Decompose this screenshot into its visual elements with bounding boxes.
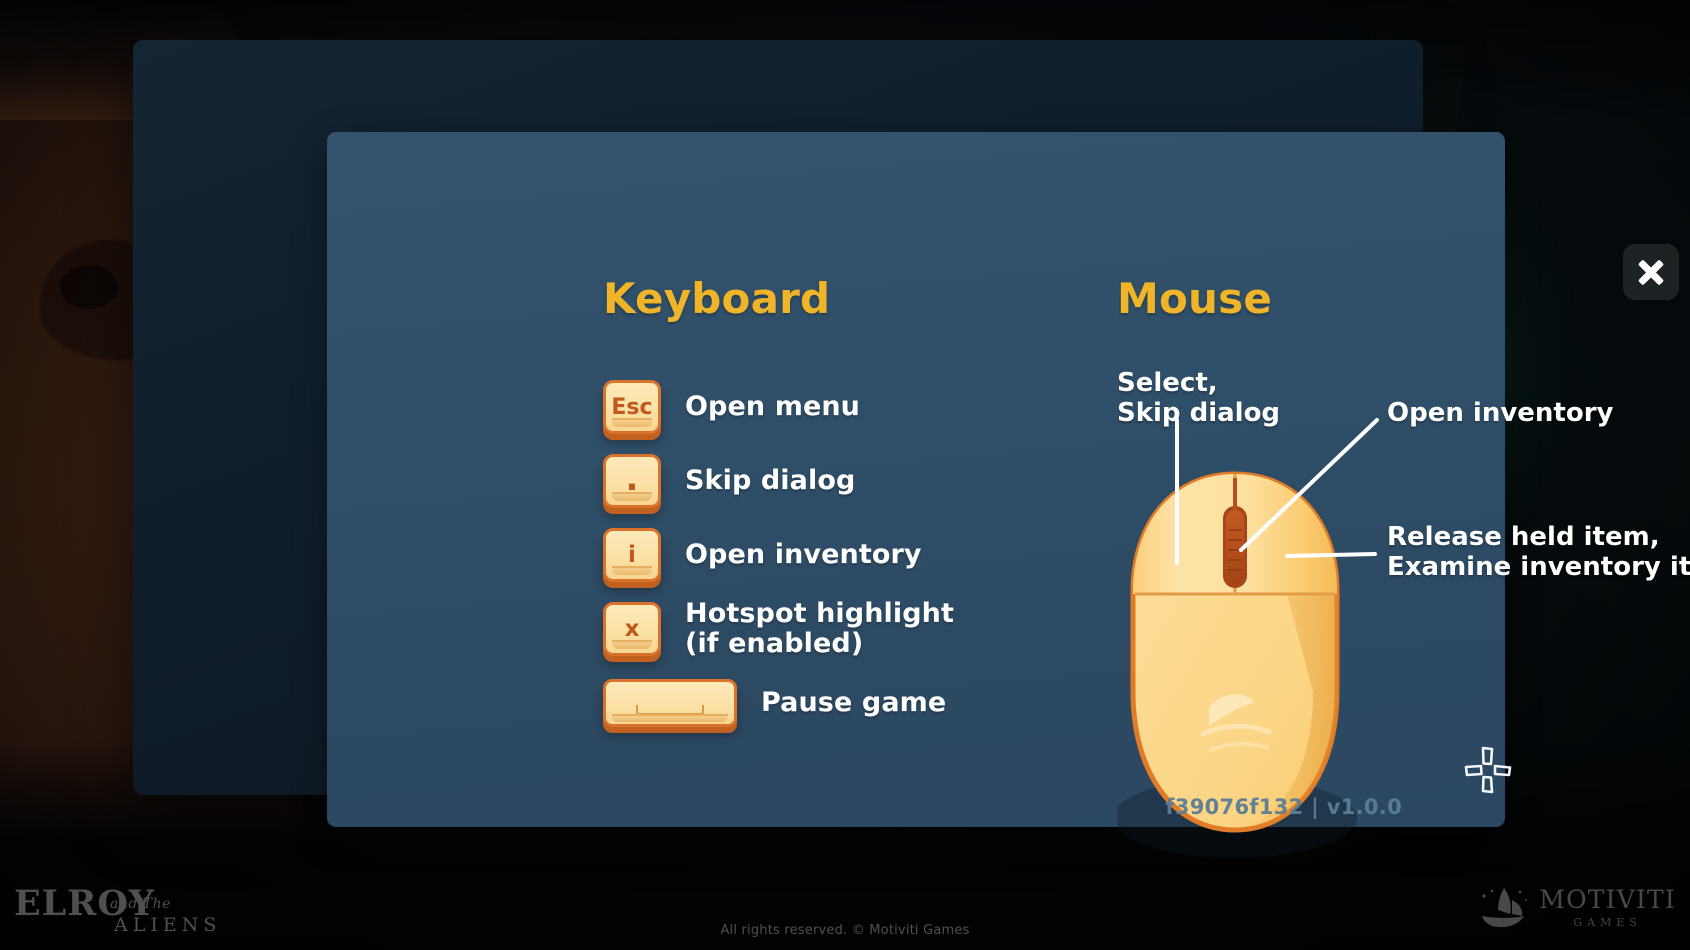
keyboard-shortcut-row: Pause game [603, 668, 1123, 738]
shortcut-label-line1: Open inventory [685, 539, 922, 570]
game-title-connector: and The [110, 896, 171, 912]
keyboard-shortcut-label: Skip dialog [685, 466, 855, 496]
shortcut-label-line1: Pause game [761, 687, 946, 718]
keyboard-shortcut-label: Open menu [685, 392, 860, 422]
keycap-spacebar [603, 679, 737, 727]
keyboard-shortcut-list: Esc Open menu . Skip dialog [603, 372, 1123, 738]
keyboard-shortcut-label: Open inventory [685, 540, 922, 570]
controls-dialog-panel: Keyboard Esc Open menu . Skip dialog [327, 132, 1505, 827]
keycap-esc: Esc [603, 380, 661, 434]
shortcut-label-line1: Open menu [685, 391, 860, 422]
keyboard-section: Keyboard Esc Open menu . Skip dialog [603, 278, 1123, 740]
keyboard-shortcut-row: Esc Open menu [603, 372, 1123, 442]
dpad-cursor-icon [1458, 740, 1518, 800]
keyboard-section-title: Keyboard [603, 278, 1123, 320]
shortcut-label-line1: Hotspot highlight [685, 598, 954, 629]
build-version-text: f39076f132 | v1.0.0 [1165, 795, 1402, 819]
keycap-label: Esc [611, 395, 652, 420]
keyboard-shortcut-label: Hotspot highlight (if enabled) [685, 599, 954, 659]
keycap-period: . [603, 454, 661, 508]
controls-dialog-frame: Keyboard Esc Open menu . Skip dialog [133, 40, 1423, 795]
keyboard-shortcut-label: Pause game [761, 688, 946, 718]
keyboard-shortcut-row: i Open inventory [603, 520, 1123, 590]
keyboard-shortcut-row: x Hotspot highlight (if enabled) [603, 594, 1123, 664]
keycap-i: i [603, 528, 661, 582]
publisher-name: MOTIVITI [1539, 887, 1676, 912]
keycap-label: i [628, 542, 636, 568]
keycap-label: . [626, 459, 639, 499]
keycap-x: x [603, 602, 661, 656]
spacebar-notch-icon [636, 705, 704, 715]
copyright-text: All rights reserved. © Motiviti Games [0, 923, 1690, 938]
keycap-label: x [625, 616, 640, 642]
mouse-section: Mouse Select, Skip dialog Open inventory… [1117, 278, 1690, 320]
shortcut-label-line2: (if enabled) [685, 629, 954, 659]
shortcut-label-line1: Skip dialog [685, 465, 855, 496]
keyboard-shortcut-row: . Skip dialog [603, 446, 1123, 516]
